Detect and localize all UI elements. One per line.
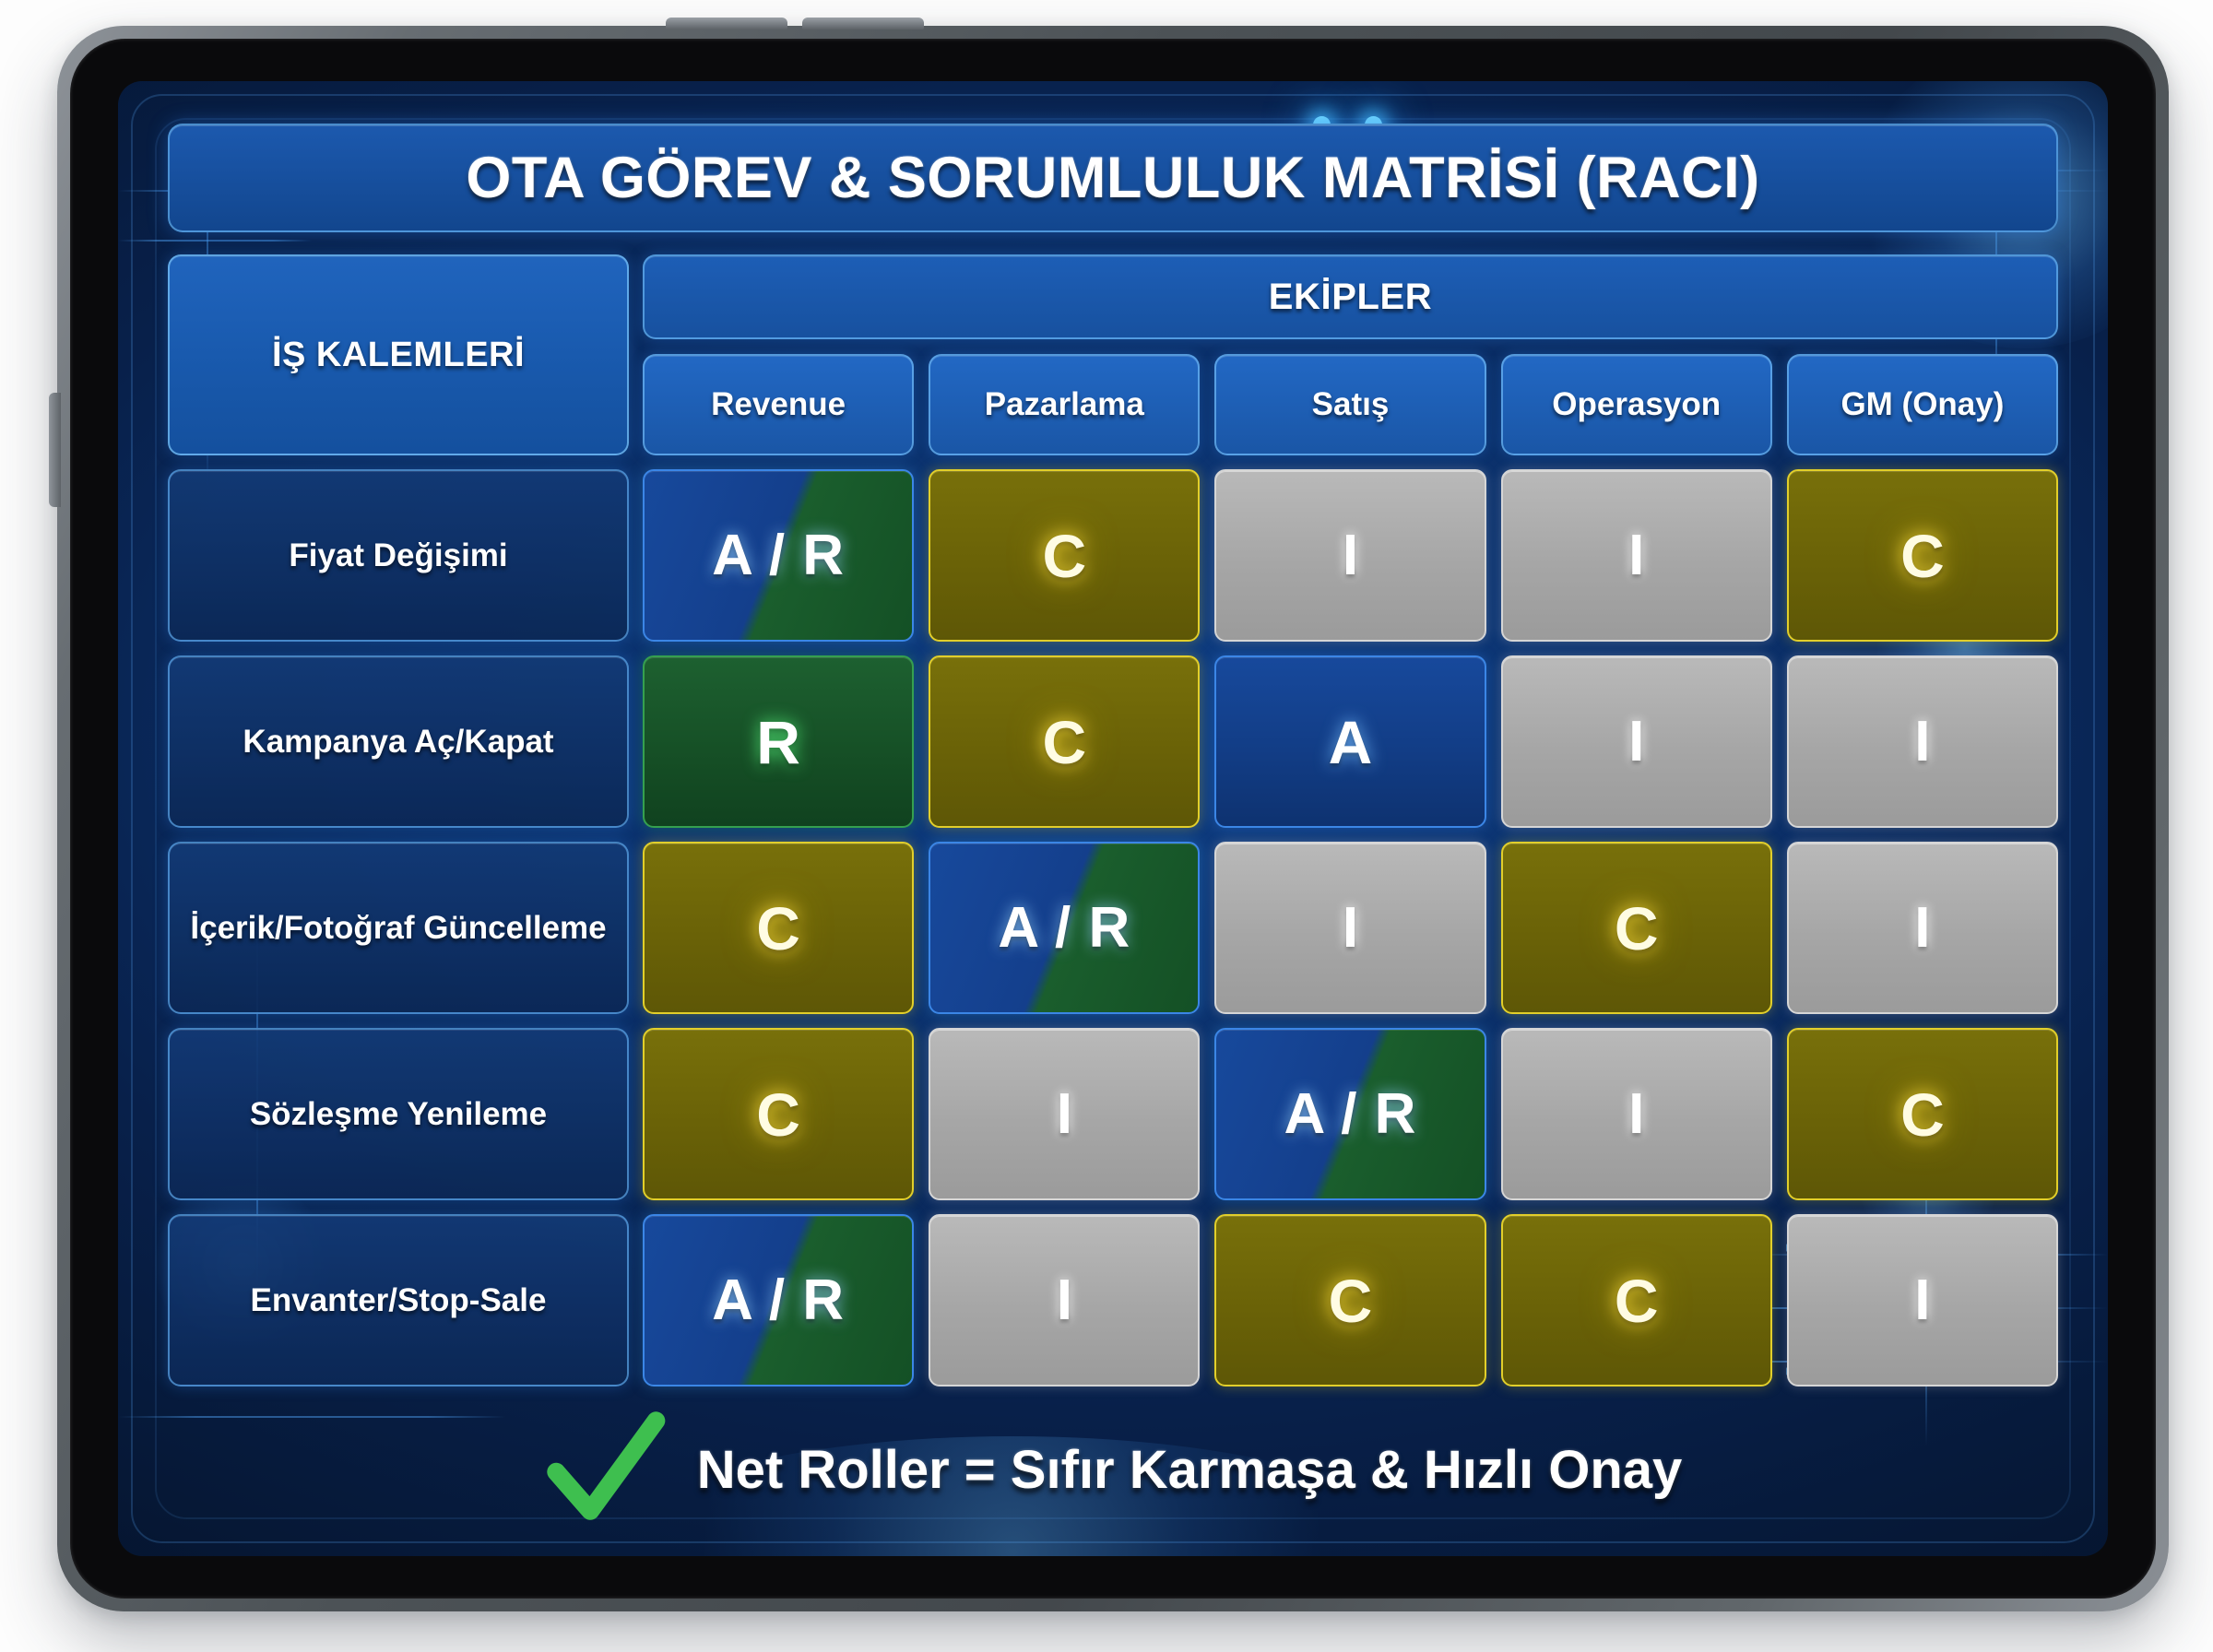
raci-cell[interactable]: A (1214, 655, 1485, 828)
raci-code: C (1042, 707, 1086, 777)
column-header-pazarlama[interactable]: Pazarlama (929, 354, 1200, 455)
footer-text: Net Roller = Sıfır Karmaşa & Hızlı Onay (697, 1439, 1683, 1501)
tablet-device: OTA GÖREV & SORUMLULUK MATRİSİ (RACI) İŞ… (57, 26, 2169, 1611)
raci-cell[interactable]: I (1787, 842, 2058, 1014)
raci-cell[interactable]: C (1214, 1214, 1485, 1386)
raci-code: I (1628, 709, 1644, 774)
tablet-screen: OTA GÖREV & SORUMLULUK MATRİSİ (RACI) İŞ… (118, 81, 2108, 1556)
row-label[interactable]: İçerik/Fotoğraf Güncelleme (168, 842, 629, 1014)
team-column-headers: Revenue Pazarlama Satış Operasyon GM (On… (643, 354, 2058, 455)
row-cells: RCAII (643, 655, 2058, 828)
raci-code: A / R (1284, 1081, 1417, 1147)
raci-code: I (1057, 1081, 1072, 1147)
raci-cell[interactable]: A / R (643, 469, 914, 642)
table-row: Sözleşme YenilemeCIA / RIC (168, 1028, 2058, 1200)
row-cells: A / RICCI (643, 1214, 2058, 1386)
raci-cell[interactable]: C (1501, 1214, 1772, 1386)
raci-code: C (1900, 521, 1945, 591)
raci-cell[interactable]: I (1787, 1214, 2058, 1386)
raci-code: C (1329, 1266, 1373, 1336)
raci-code: C (1615, 893, 1659, 963)
raci-code: C (756, 893, 800, 963)
page-title: OTA GÖREV & SORUMLULUK MATRİSİ (RACI) (466, 145, 1759, 211)
raci-code: I (1914, 895, 1930, 961)
raci-cell[interactable]: C (1501, 842, 1772, 1014)
volume-up-button[interactable] (666, 18, 787, 29)
tablet-bezel: OTA GÖREV & SORUMLULUK MATRİSİ (RACI) İŞ… (70, 39, 2156, 1599)
table-row: Fiyat DeğişimiA / RCIIC (168, 469, 2058, 642)
raci-code: I (1057, 1268, 1072, 1333)
raci-code: A / R (998, 895, 1130, 961)
raci-cell[interactable]: I (1501, 1028, 1772, 1200)
raci-code: I (1914, 1268, 1930, 1333)
raci-cell[interactable]: I (1214, 842, 1485, 1014)
raci-cell[interactable]: I (1214, 469, 1485, 642)
raci-cell[interactable]: C (1787, 1028, 2058, 1200)
raci-cell[interactable]: I (1787, 655, 2058, 828)
row-cells: CA / RICI (643, 842, 2058, 1014)
slide-content: OTA GÖREV & SORUMLULUK MATRİSİ (RACI) İŞ… (118, 81, 2108, 1556)
table-row: Kampanya Aç/KapatRCAII (168, 655, 2058, 828)
column-header-satis[interactable]: Satış (1214, 354, 1485, 455)
screenshot-stage: OTA GÖREV & SORUMLULUK MATRİSİ (RACI) İŞ… (0, 0, 2213, 1652)
raci-matrix: İŞ KALEMLERİ EKİPLER Revenue Pazarlama S… (168, 254, 2058, 1386)
raci-cell[interactable]: C (643, 1028, 914, 1200)
raci-cell[interactable]: I (1501, 655, 1772, 828)
raci-cell[interactable]: C (1787, 469, 2058, 642)
raci-code: R (756, 707, 800, 777)
row-cells: CIA / RIC (643, 1028, 2058, 1200)
raci-code: C (756, 1080, 800, 1150)
column-header-gm-onay[interactable]: GM (Onay) (1787, 354, 2058, 455)
column-header-operasyon[interactable]: Operasyon (1501, 354, 1772, 455)
raci-cell[interactable]: I (1501, 469, 1772, 642)
power-button[interactable] (49, 393, 61, 507)
green-check-icon (544, 1409, 666, 1530)
raci-code: I (1343, 523, 1358, 588)
raci-code: C (1900, 1080, 1945, 1150)
raci-code: I (1343, 895, 1358, 961)
raci-cell[interactable]: A / R (643, 1214, 914, 1386)
title-bar: OTA GÖREV & SORUMLULUK MATRİSİ (RACI) (168, 124, 2058, 232)
raci-cell[interactable]: I (929, 1214, 1200, 1386)
raci-cell[interactable]: I (929, 1028, 1200, 1200)
matrix-header-row: İŞ KALEMLERİ EKİPLER Revenue Pazarlama S… (168, 254, 2058, 455)
table-row: Envanter/Stop-SaleA / RICCI (168, 1214, 2058, 1386)
raci-code: I (1628, 523, 1644, 588)
raci-code: I (1914, 709, 1930, 774)
raci-code: A (1329, 707, 1373, 777)
teams-header-group: EKİPLER Revenue Pazarlama Satış Operasyo… (643, 254, 2058, 455)
raci-code: A / R (712, 1268, 845, 1333)
raci-code: I (1628, 1081, 1644, 1147)
table-row: İçerik/Fotoğraf GüncellemeCA / RICI (168, 842, 2058, 1014)
raci-cell[interactable]: A / R (1214, 1028, 1485, 1200)
raci-cell[interactable]: C (643, 842, 914, 1014)
row-label[interactable]: Sözleşme Yenileme (168, 1028, 629, 1200)
column-header-revenue[interactable]: Revenue (643, 354, 914, 455)
raci-cell[interactable]: C (929, 469, 1200, 642)
row-cells: A / RCIIC (643, 469, 2058, 642)
row-label[interactable]: Fiyat Değişimi (168, 469, 629, 642)
raci-cell[interactable]: A / R (929, 842, 1200, 1014)
raci-code: C (1042, 521, 1086, 591)
footer-banner: Net Roller = Sıfır Karmaşa & Hızlı Onay (168, 1392, 2058, 1547)
raci-code: A / R (712, 523, 845, 588)
row-label[interactable]: Kampanya Aç/Kapat (168, 655, 629, 828)
row-label[interactable]: Envanter/Stop-Sale (168, 1214, 629, 1386)
raci-cell[interactable]: C (929, 655, 1200, 828)
teams-band-label: EKİPLER (643, 254, 2058, 339)
matrix-body: Fiyat DeğişimiA / RCIICKampanya Aç/Kapat… (168, 469, 2058, 1386)
raci-code: C (1615, 1266, 1659, 1336)
raci-cell[interactable]: R (643, 655, 914, 828)
volume-down-button[interactable] (802, 18, 924, 29)
work-items-corner-header: İŞ KALEMLERİ (168, 254, 629, 455)
